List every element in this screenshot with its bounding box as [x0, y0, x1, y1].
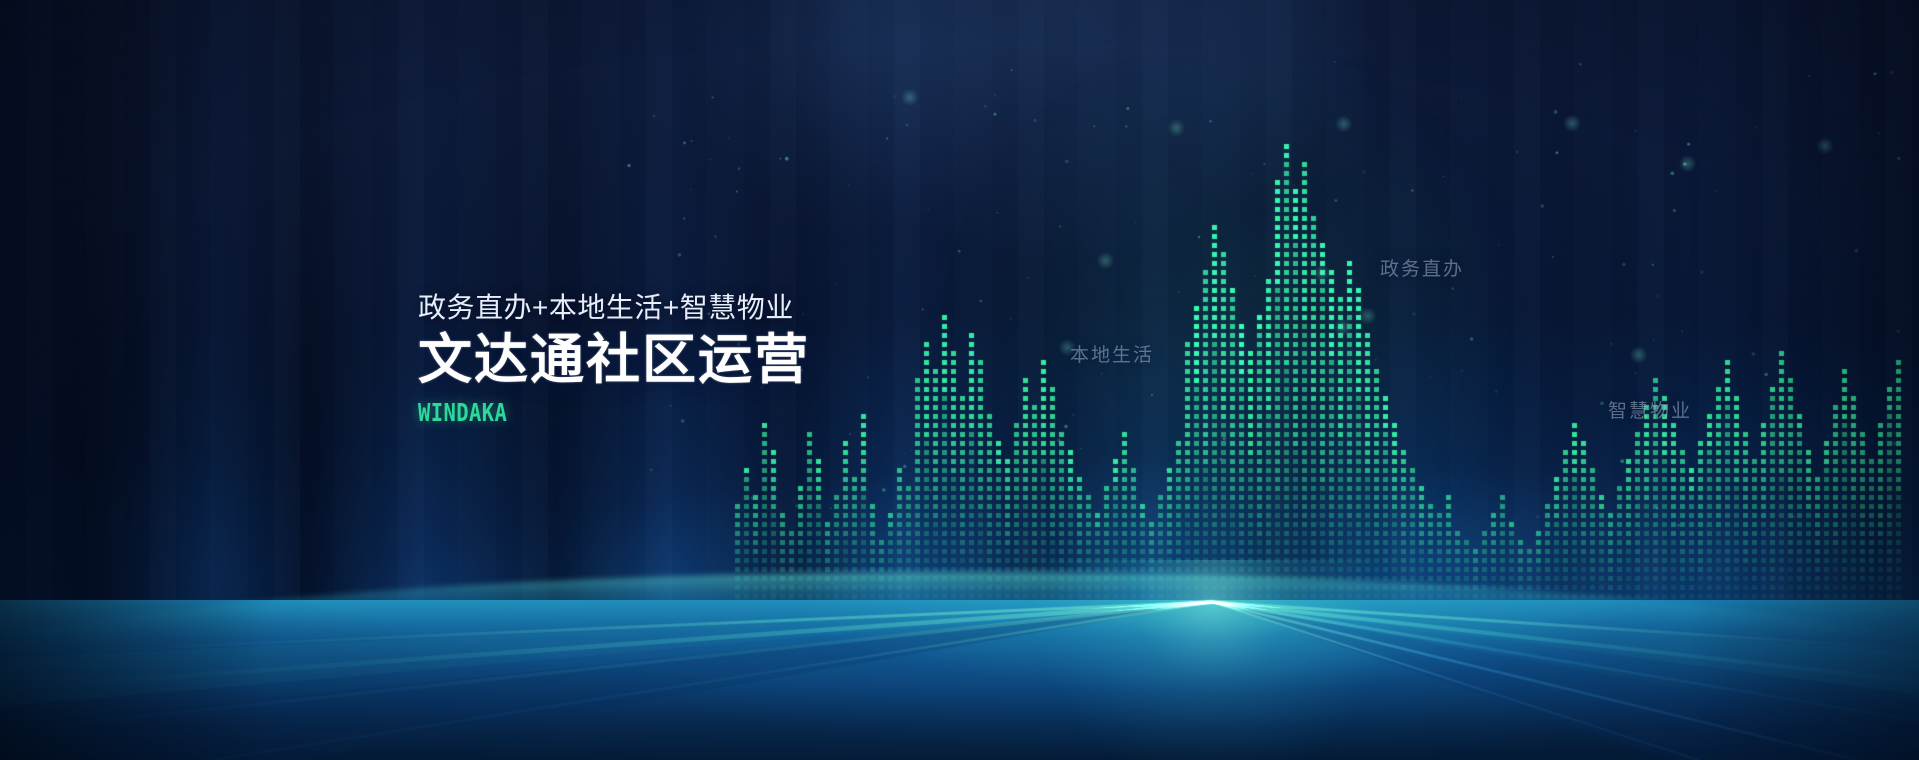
label-smart-property: 智慧物业	[1608, 396, 1692, 423]
label-gov-service: 政务直办	[1380, 254, 1464, 281]
headline-block: 政务直办+本地生活+智慧物业 文达通社区运营 WINDAKA	[418, 290, 810, 427]
label-local-life: 本地生活	[1070, 340, 1154, 367]
banner-stage: 政务直办+本地生活+智慧物业 文达通社区运营 WINDAKA 本地生活 政务直办…	[0, 0, 1919, 760]
banner-eyebrow: 政务直办+本地生活+智慧物业	[418, 290, 810, 325]
brand-wordmark: WINDAKA	[418, 398, 739, 427]
sparkle-particles	[0, 0, 1919, 760]
banner-headline: 文达通社区运营	[418, 331, 810, 390]
